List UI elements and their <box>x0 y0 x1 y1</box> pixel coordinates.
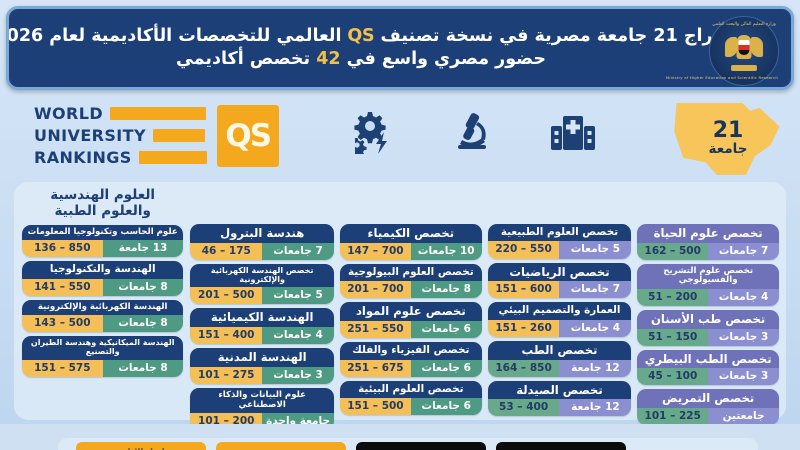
title-2-post: تخصص أكاديمي <box>176 49 316 69</box>
subject-stats: 6 جامعات550 – 251 <box>340 321 482 338</box>
universities-count: 7 جامعات <box>262 243 334 260</box>
subject-card[interactable]: تخصص العلوم البيولوجية8 جامعات700 – 201 <box>340 264 482 299</box>
qs-word-row-2: UNIVERSITY <box>34 126 207 145</box>
qs-word-university: UNIVERSITY <box>34 126 146 145</box>
rank-range: 400 – 53 <box>488 399 560 416</box>
emblem-ring: وزارة التعليم العالي والبحث العلمي Minis… <box>709 16 779 86</box>
title-2-pre: حضور مصري واسع في <box>341 49 546 69</box>
column-rows: تخصص العلوم الطبيعية5 جامعات550 – 220تخص… <box>488 224 632 416</box>
brand-band: QS WORLD UNIVERSITY RANKINGS <box>0 96 800 182</box>
subject-stats: 3 جامعات100 – 45 <box>637 368 779 385</box>
universities-count: 6 جامعات <box>411 398 482 415</box>
rank-range: 500 – 143 <box>22 315 103 332</box>
badge-label: جامعة <box>709 142 748 158</box>
subject-stats: 7 جامعات175 – 46 <box>190 243 334 260</box>
subject-card[interactable]: هندسة البترول7 جامعات175 – 46 <box>190 224 334 260</box>
subject-name: تخصص علوم الحياة <box>637 224 779 243</box>
subject-column-sciences-health: تخصص العلوم الطبيعية5 جامعات550 – 220تخص… <box>485 186 635 416</box>
footer-pill-orange-2[interactable] <box>216 442 346 450</box>
gears-energy-icon <box>348 110 394 158</box>
rank-range: 850 – 136 <box>22 240 103 257</box>
subject-stats: 6 جامعات500 – 151 <box>340 398 482 415</box>
rank-range: 700 – 147 <box>340 243 411 260</box>
subject-card[interactable]: تخصص التمريضجامعتين225 – 101 <box>637 389 779 425</box>
badge-text: 21 جامعة <box>672 100 784 178</box>
universities-count: 3 جامعات <box>262 367 334 384</box>
subject-card[interactable]: تخصص الهندسة الكهربائية والإلكترونية5 جا… <box>190 264 334 305</box>
qs-logo: QS WORLD UNIVERSITY RANKINGS <box>34 104 279 167</box>
subject-card[interactable]: الهندسة الكيميائية4 جامعات400 – 151 <box>190 308 334 344</box>
rank-range: 700 – 201 <box>340 281 411 298</box>
footer-bar: اتحاد الإذاعة <box>58 438 758 450</box>
footer-pill-orange-1[interactable]: اتحاد الإذاعة <box>76 442 206 450</box>
subject-card[interactable]: تخصص الكيمياء10 جامعات700 – 147 <box>340 224 482 260</box>
rank-range: 150 – 51 <box>637 329 708 346</box>
subjects-panel: العلوم الهندسية والعلوم الطبيةعلوم الحاس… <box>14 182 786 420</box>
microscope-icon <box>450 110 494 158</box>
universities-count: 8 جامعات <box>103 279 184 296</box>
rank-range: 550 – 141 <box>22 279 103 296</box>
rank-range: 400 – 151 <box>190 327 262 344</box>
subject-name: تخصص الطب <box>488 341 632 360</box>
rank-range: 100 – 45 <box>637 368 708 385</box>
subject-stats: 12 جامعة400 – 53 <box>488 399 632 416</box>
header-banner: إدراج 21 جامعة مصرية في نسخة تصنيف QS ال… <box>6 6 794 90</box>
subject-stats: جامعتين225 – 101 <box>637 408 779 425</box>
subject-name: تخصص الكيمياء <box>340 224 482 243</box>
title-1-post: العالمي للتخصصات الأكاديمية لعام 2026 <box>6 26 347 46</box>
category-icons <box>348 110 596 158</box>
subject-card[interactable]: العمارة والتصميم البيئي4 جامعات260 – 151 <box>488 302 632 337</box>
qs-wordmark: WORLD UNIVERSITY RANKINGS <box>34 104 207 167</box>
subject-stats: 7 جامعات500 – 162 <box>637 243 779 260</box>
qs-mark-icon: QS <box>217 105 279 167</box>
rank-range: 850 – 164 <box>488 360 560 377</box>
footer-pill-dark-1[interactable] <box>356 442 486 450</box>
subject-name: الهندسة والتكنولوجيا <box>22 261 183 278</box>
universities-count: 3 جامعات <box>708 368 779 385</box>
subject-stats: 10 جامعات700 – 147 <box>340 243 482 260</box>
title-1-pre: إدراج 21 جامعة مصرية في نسخة تصنيف <box>374 26 727 46</box>
footer-strip: اتحاد الإذاعة <box>0 424 800 450</box>
subject-name: الهندسة الميكانيكية وهندسة الطيران والتص… <box>22 336 183 360</box>
subject-name: تخصص طب الأسنان <box>637 310 779 329</box>
subject-columns: العلوم الهندسية والعلوم الطبيةعلوم الحاس… <box>14 182 786 420</box>
page-title-line-1: إدراج 21 جامعة مصرية في نسخة تصنيف QS ال… <box>6 27 728 47</box>
subject-card[interactable]: الهندسة والتكنولوجيا8 جامعات550 – 141 <box>22 261 183 296</box>
universities-count: 3 جامعات <box>708 329 779 346</box>
universities-count: 8 جامعات <box>411 281 482 298</box>
qs-bar-3 <box>139 151 207 164</box>
subject-stats: 5 جامعات550 – 220 <box>488 241 632 258</box>
subject-name: تخصص العلوم البيولوجية <box>340 264 482 281</box>
subject-card[interactable]: الهندسة الميكانيكية وهندسة الطيران والتص… <box>22 336 183 377</box>
subject-stats: 3 جامعات150 – 51 <box>637 329 779 346</box>
rank-range: 675 – 251 <box>340 360 411 377</box>
subject-stats: 8 جامعات550 – 141 <box>22 279 183 296</box>
subject-card[interactable]: تخصص العلوم البيئية6 جامعات500 – 151 <box>340 381 482 416</box>
universities-count: 8 جامعات <box>103 360 184 377</box>
qs-word-world: WORLD <box>34 104 103 123</box>
universities-count: 4 جامعات <box>262 327 334 344</box>
subject-stats: 13 جامعة850 – 136 <box>22 240 183 257</box>
eagle-of-saladin-icon <box>724 29 764 73</box>
subject-name: الهندسة الكيميائية <box>190 308 334 327</box>
universities-count: 13 جامعة <box>103 240 184 257</box>
subject-column-life-medical: تخصص علوم الحياة7 جامعات500 – 162تخصص عل… <box>634 186 782 416</box>
subject-name: تخصص العلوم الطبيعية <box>488 224 632 241</box>
column-rows: تخصص الكيمياء10 جامعات700 – 147تخصص العل… <box>340 224 482 415</box>
rank-range: 500 – 162 <box>637 243 708 260</box>
subject-card[interactable]: تخصص طب الأسنان3 جامعات150 – 51 <box>637 310 779 346</box>
qs-bar-1 <box>110 107 206 120</box>
rank-range: 600 – 151 <box>488 281 560 298</box>
universities-count: 12 جامعة <box>559 399 631 416</box>
column-rows: تخصص علوم الحياة7 جامعات500 – 162تخصص عل… <box>637 224 779 425</box>
universities-count: جامعتين <box>708 408 779 425</box>
subject-name: تخصص الفيزياء والفلك <box>340 342 482 359</box>
subject-stats: 4 جامعات400 – 151 <box>190 327 334 344</box>
universities-count: 5 جامعات <box>262 287 334 304</box>
subject-card[interactable]: تخصص الطب12 جامعة850 – 164 <box>488 341 632 377</box>
emblem-arc-bottom-label: Ministry of Higher Education and Scienti… <box>710 75 778 80</box>
column-rows: هندسة البترول7 جامعات175 – 46تخصص الهندس… <box>190 224 334 430</box>
subject-name: هندسة البترول <box>190 224 334 243</box>
rank-range: 225 – 101 <box>637 408 708 425</box>
universities-count: 6 جامعات <box>411 360 482 377</box>
universities-count: 10 جامعات <box>411 243 482 260</box>
rank-range: 500 – 201 <box>190 287 262 304</box>
subject-name: تخصص الرياضيات <box>488 263 632 282</box>
rank-range: 500 – 151 <box>340 398 411 415</box>
universities-count: 8 جامعات <box>103 315 184 332</box>
subject-stats: 4 جامعات200 – 51 <box>637 289 779 306</box>
universities-count: 6 جامعات <box>411 321 482 338</box>
subject-stats: 8 جامعات500 – 143 <box>22 315 183 332</box>
subject-stats: 5 جامعات500 – 201 <box>190 287 334 304</box>
subject-name: علوم الحاسب وتكنولوجيا المعلومات <box>22 225 183 240</box>
column-title-spacer <box>488 186 632 224</box>
subject-name: تخصص الطب البيطري <box>637 350 779 369</box>
qs-word-rankings: RANKINGS <box>34 148 132 167</box>
footer-pill-dark-2[interactable] <box>496 442 626 450</box>
eagle-wing-left <box>725 37 737 57</box>
rank-range: 260 – 151 <box>488 320 560 337</box>
eagle-shield <box>739 40 750 55</box>
universities-count: 12 جامعة <box>559 360 631 377</box>
subject-stats: 4 جامعات260 – 151 <box>488 320 632 337</box>
subject-stats: 8 جامعات575 – 151 <box>22 360 183 377</box>
rank-range: 275 – 101 <box>190 367 262 384</box>
subject-name: تخصص علوم المواد <box>340 302 482 321</box>
subject-name: تخصص علوم التشريح والفسيولوجي <box>637 264 779 289</box>
eagle-base <box>731 65 757 71</box>
subject-card[interactable]: تخصص الصيدلة12 جامعة400 – 53 <box>488 381 632 417</box>
title-2-highlight: 42 <box>316 49 340 69</box>
subject-name: علوم البيانات والذكاء الاصطناعي <box>190 388 334 413</box>
subject-column-natural-sciences: تخصص الكيمياء10 جامعات700 – 147تخصص العل… <box>337 186 485 416</box>
column-title-spacer <box>190 186 334 224</box>
eagle-wing-right <box>751 37 763 57</box>
ministry-emblem-icon: وزارة التعليم العالي والبحث العلمي Minis… <box>705 13 783 89</box>
subject-name: العمارة والتصميم البيئي <box>488 302 632 319</box>
universities-count: 5 جامعات <box>559 241 631 258</box>
column-title-spacer <box>637 186 779 224</box>
subject-card[interactable]: تخصص علوم المواد6 جامعات550 – 251 <box>340 302 482 338</box>
emblem-arc-top-label: وزارة التعليم العالي والبحث العلمي <box>710 22 778 27</box>
subject-name: تخصص العلوم البيئية <box>340 381 482 398</box>
subject-name: تخصص التمريض <box>637 389 779 408</box>
universities-count: 7 جامعات <box>559 281 631 298</box>
subject-card[interactable]: تخصص علوم التشريح والفسيولوجي4 جامعات200… <box>637 264 779 306</box>
qs-word-row-3: RANKINGS <box>34 148 207 167</box>
subject-card[interactable]: الهندسة الكهربائية والإلكترونية8 جامعات5… <box>22 300 183 333</box>
subject-stats: 7 جامعات600 – 151 <box>488 281 632 298</box>
subject-stats: 3 جامعات275 – 101 <box>190 367 334 384</box>
rank-range: 550 – 220 <box>488 241 560 258</box>
subject-name: الهندسة الكهربائية والإلكترونية <box>22 300 183 315</box>
subject-card[interactable]: الهندسة المدنية3 جامعات275 – 101 <box>190 348 334 384</box>
column-rows: علوم الحاسب وتكنولوجيا المعلومات13 جامعة… <box>22 225 183 377</box>
subject-stats: 8 جامعات700 – 201 <box>340 281 482 298</box>
universities-count: 4 جامعات <box>559 320 631 337</box>
subject-name: تخصص الصيدلة <box>488 381 632 400</box>
rank-range: 575 – 151 <box>22 360 103 377</box>
page-title-line-2: حضور مصري واسع في 42 تخصص أكاديمي <box>176 50 546 70</box>
subject-card[interactable]: علوم الحاسب وتكنولوجيا المعلومات13 جامعة… <box>22 225 183 258</box>
subject-stats: 12 جامعة850 – 164 <box>488 360 632 377</box>
subject-name: تخصص الهندسة الكهربائية والإلكترونية <box>190 264 334 288</box>
badge-count: 21 <box>713 120 744 142</box>
rank-range: 200 – 51 <box>637 289 708 306</box>
column-title-engineering-medical: العلوم الهندسية والعلوم الطبية <box>22 186 183 225</box>
universities-count: 7 جامعات <box>708 243 779 260</box>
subject-card[interactable]: تخصص علوم الحياة7 جامعات500 – 162 <box>637 224 779 260</box>
subject-stats: 6 جامعات675 – 251 <box>340 360 482 377</box>
hospital-icon <box>550 110 596 158</box>
subject-card[interactable]: تخصص الفيزياء والفلك6 جامعات675 – 251 <box>340 342 482 377</box>
qs-bar-2 <box>153 129 205 142</box>
rank-range: 550 – 251 <box>340 321 411 338</box>
subject-card[interactable]: تخصص العلوم الطبيعية5 جامعات550 – 220 <box>488 224 632 259</box>
subject-column-applied-engineering: هندسة البترول7 جامعات175 – 46تخصص الهندس… <box>187 186 337 416</box>
column-title-spacer <box>340 186 482 224</box>
subject-column-engineering-medical: العلوم الهندسية والعلوم الطبيةعلوم الحاس… <box>18 186 187 416</box>
egypt-universities-badge: 21 جامعة <box>672 100 784 178</box>
qs-word-row-1: WORLD <box>34 104 207 123</box>
universities-count: 4 جامعات <box>708 289 779 306</box>
subject-card[interactable]: تخصص الرياضيات7 جامعات600 – 151 <box>488 263 632 299</box>
title-1-highlight: QS <box>347 26 374 46</box>
infographic-root: إدراج 21 جامعة مصرية في نسخة تصنيف QS ال… <box>0 0 800 450</box>
subject-card[interactable]: تخصص الطب البيطري3 جامعات100 – 45 <box>637 350 779 386</box>
subject-name: الهندسة المدنية <box>190 348 334 367</box>
rank-range: 175 – 46 <box>190 243 262 260</box>
